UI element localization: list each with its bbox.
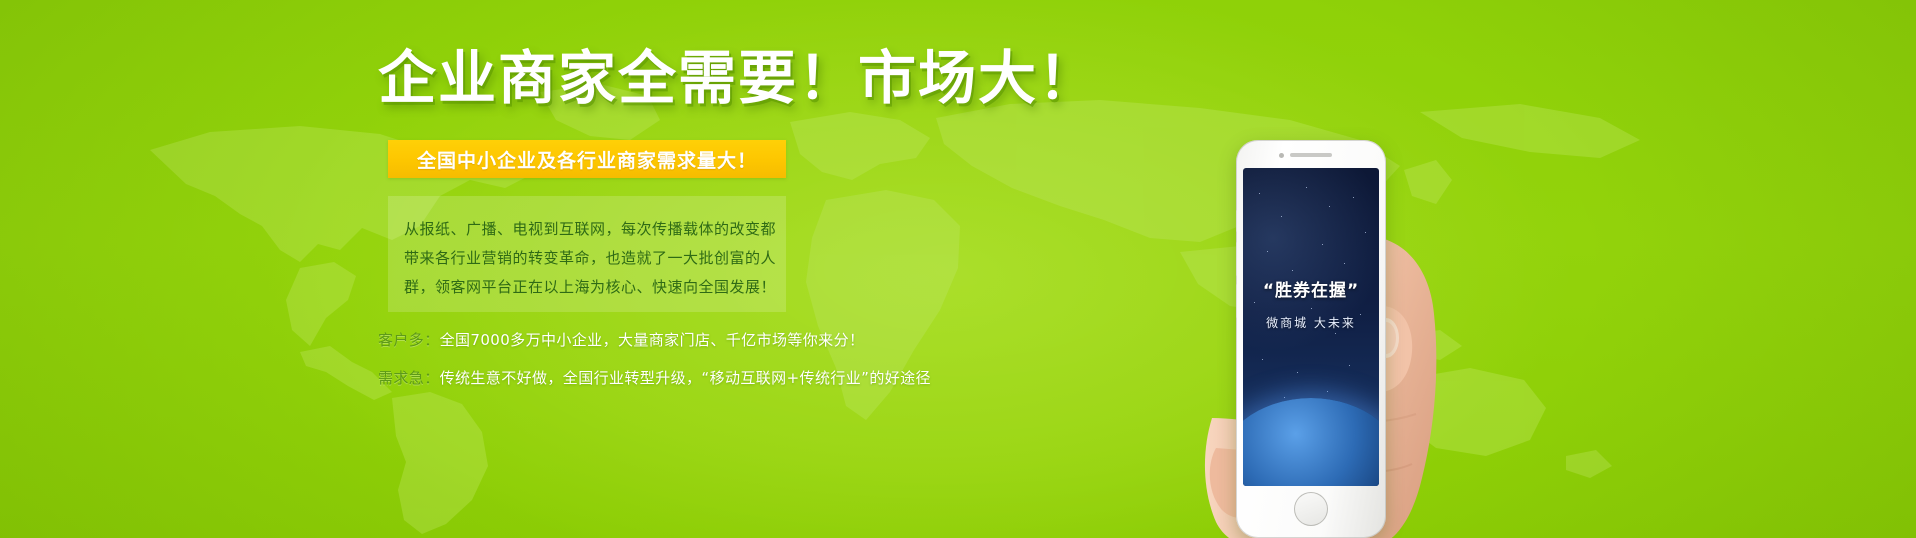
phone-silent-switch	[1236, 210, 1237, 232]
home-button[interactable]	[1294, 492, 1328, 526]
hand-holding-phone: “胜券在握” 微商城 大未来	[1186, 118, 1486, 538]
phone-screen-subtitle: 微商城 大未来	[1243, 314, 1379, 331]
ribbon-label: 全国中小企业及各行业商家需求量大！	[417, 146, 757, 173]
phone-screen-title: “胜券在握”	[1243, 276, 1379, 301]
bullet-body-1: 全国7000多万中小企业，大量商家门店、千亿市场等你来分！	[440, 331, 865, 349]
highlight-ribbon: 全国中小企业及各行业商家需求量大！	[388, 140, 786, 178]
page-title: 企业商家全需要！市场大！	[378, 47, 1018, 109]
earth-globe-icon	[1243, 398, 1379, 486]
phone-volume-down-button	[1236, 284, 1237, 318]
description-line-1: 从报纸、广播、电视到互联网，每次传播载体的改变都	[404, 215, 784, 244]
phone-volume-up-button	[1236, 242, 1237, 276]
earpiece-speaker-icon	[1290, 153, 1332, 157]
promo-banner: 企业商家全需要！市场大！ 全国中小企业及各行业商家需求量大！ 从报纸、广播、电视…	[0, 0, 1916, 538]
smartphone-icon: “胜券在握” 微商城 大未来	[1236, 140, 1386, 538]
bullet-lead-1: 客户多：	[378, 331, 440, 349]
list-item: 需求急：传统生意不好做，全国行业转型升级，“移动互联网+传统行业”的好途径	[378, 363, 1018, 394]
list-item: 客户多：全国7000多万中小企业，大量商家门店、千亿市场等你来分！	[378, 325, 1018, 356]
bullet-list: 客户多：全国7000多万中小企业，大量商家门店、千亿市场等你来分！ 需求急：传统…	[378, 325, 1018, 394]
banner-content: 企业商家全需要！市场大！ 全国中小企业及各行业商家需求量大！ 从报纸、广播、电视…	[378, 0, 1018, 538]
bullet-body-2: 传统生意不好做，全国行业转型升级，“移动互联网+传统行业”的好途径	[440, 369, 931, 387]
front-camera-icon	[1279, 153, 1284, 158]
description-text: 从报纸、广播、电视到互联网，每次传播载体的改变都 带来各行业营销的转变革命，也造…	[404, 215, 784, 302]
description-line-2: 带来各行业营销的转变革命，也造就了一大批创富的人	[404, 244, 784, 273]
description-line-3: 群，领客网平台正在以上海为核心、快速向全国发展！	[404, 273, 784, 302]
bullet-lead-2: 需求急：	[378, 369, 440, 387]
phone-screen: “胜券在握” 微商城 大未来	[1243, 168, 1379, 486]
